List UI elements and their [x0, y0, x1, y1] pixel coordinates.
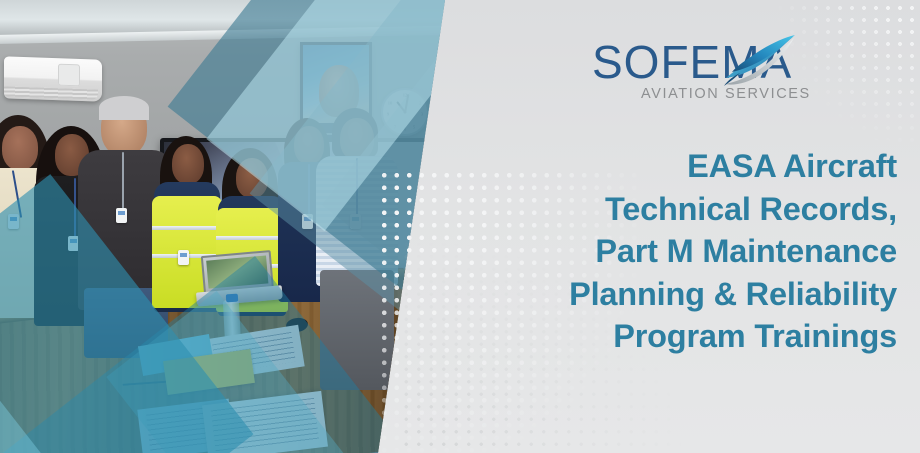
laptop-screen [206, 255, 268, 288]
wing-swoosh-icon [722, 34, 796, 90]
promotional-banner: Thank you for attending this Training I … [0, 0, 920, 453]
title-line-4: Planning & Reliability [477, 273, 897, 316]
title-line-3: Part M Maintenance [477, 230, 897, 273]
title-line-1: EASA Aircraft [477, 145, 897, 188]
air-conditioner-panel [58, 64, 80, 87]
water-bottle-cap [226, 294, 238, 303]
title-line-5: Program Trainings [477, 315, 897, 358]
wall-clock-icon: 12 2 3 5 6 7 9 10 [381, 88, 429, 136]
title-line-2: Technical Records, [477, 188, 897, 231]
clock-center [404, 111, 407, 114]
sofema-logo[interactable]: SOFEMA AVIATION SERVICES [592, 36, 792, 108]
banner-title: EASA Aircraft Technical Records, Part M … [477, 145, 897, 358]
